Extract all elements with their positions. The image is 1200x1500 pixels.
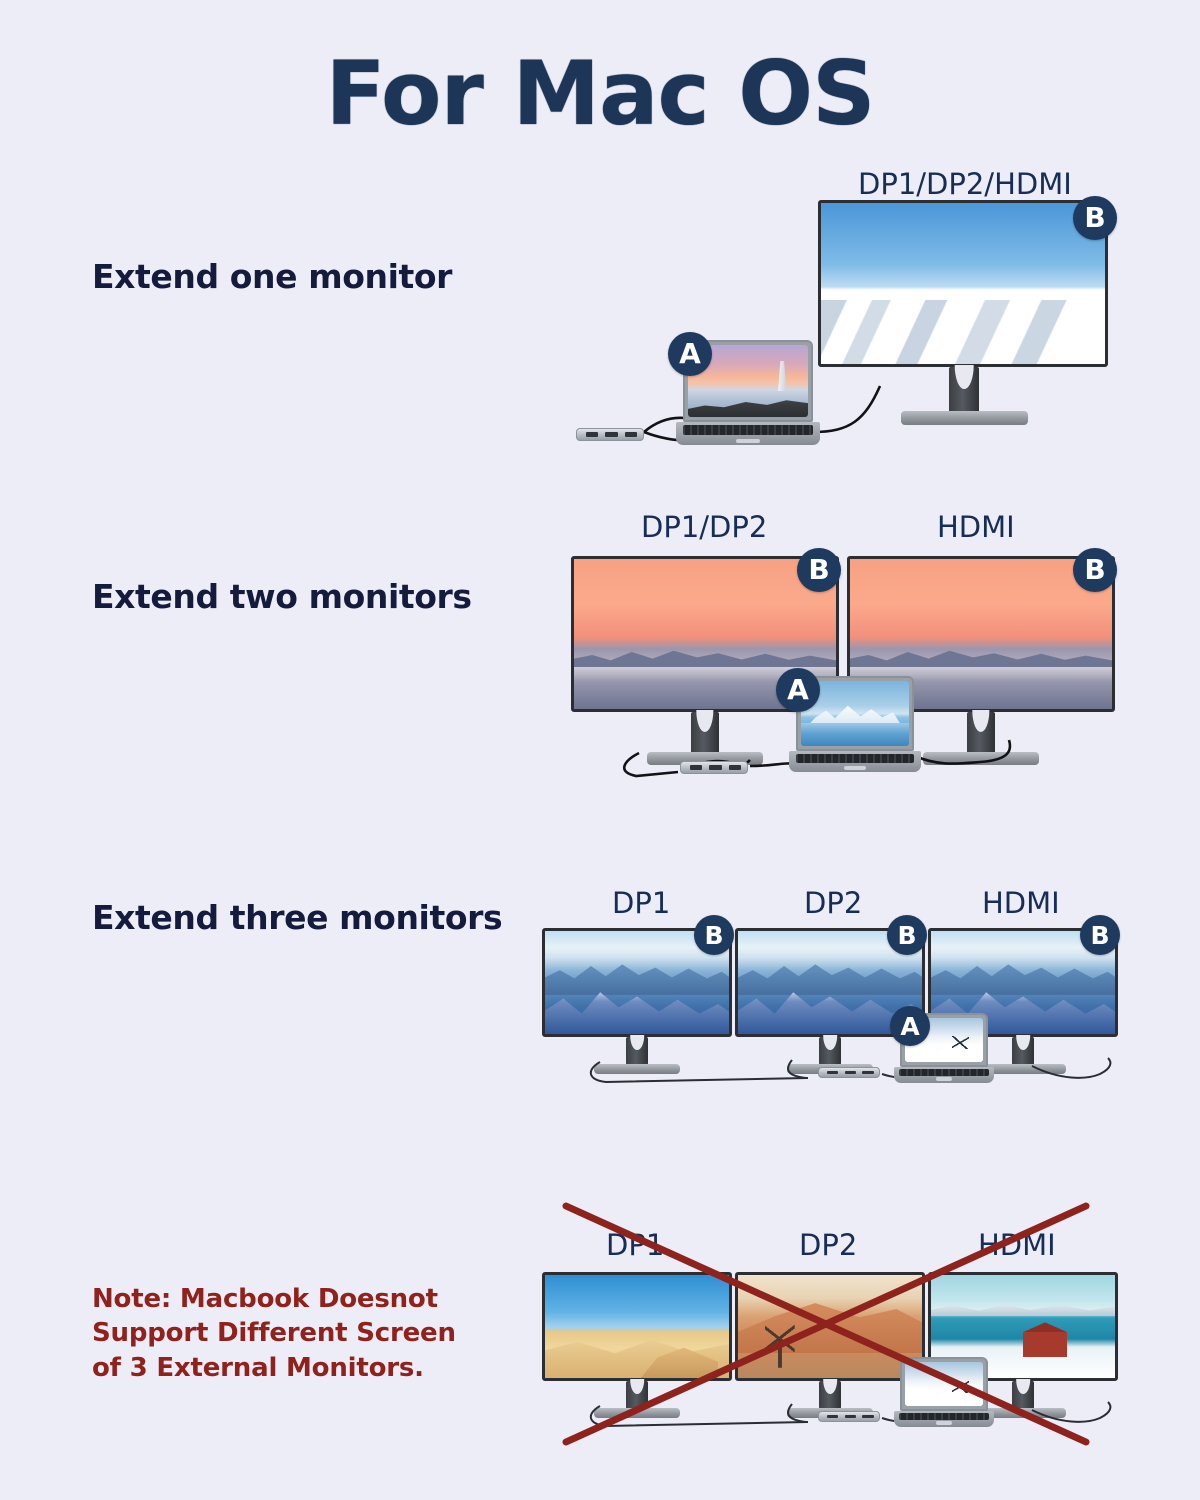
laptop-deck xyxy=(894,1411,994,1427)
section-heading-extend-two: Extend two monitors xyxy=(92,577,472,616)
laptop-keyboard xyxy=(899,1069,989,1076)
badge-b-row3-left: B xyxy=(694,915,734,955)
hub-port xyxy=(827,1071,838,1075)
port-label-row3-monitor2: DP2 xyxy=(804,886,862,920)
infographic-page: For Mac OS Extend one monitor Extend two… xyxy=(0,0,1200,1500)
hub-ports xyxy=(827,1071,874,1075)
section-heading-extend-three: Extend three monitors xyxy=(92,898,502,937)
hub-port xyxy=(605,432,617,436)
hub-ports xyxy=(690,765,742,769)
monitor-neck xyxy=(1012,1037,1034,1065)
monitor-bezel xyxy=(735,1272,925,1381)
usb-hub-dock-row2 xyxy=(680,761,748,774)
monitor-row4-center xyxy=(735,1272,925,1417)
usb-hub-dock-row1 xyxy=(576,428,644,441)
badge-a-row2: A xyxy=(776,668,820,712)
usb-hub-dock-row4 xyxy=(818,1411,880,1422)
hub-port xyxy=(586,432,598,436)
monitor-screen xyxy=(821,203,1105,364)
badge-a-row1: A xyxy=(668,332,712,376)
monitor-neck xyxy=(819,1037,841,1065)
hub-port xyxy=(862,1071,873,1075)
laptop-deck xyxy=(894,1067,994,1083)
monitor-neck xyxy=(967,712,995,754)
port-label-row2-monitor1: DP1/DP2 xyxy=(641,510,767,544)
laptop-row4 xyxy=(900,1357,988,1429)
port-label-row3-monitor3: HDMI xyxy=(982,886,1060,920)
monitor-base xyxy=(594,1408,680,1418)
monitor-neck xyxy=(819,1381,841,1409)
monitor-row1 xyxy=(818,200,1108,440)
hub-ports xyxy=(586,432,638,436)
laptop-trackpad-notch xyxy=(936,1077,952,1081)
port-label-row2-monitor2: HDMI xyxy=(937,510,1015,544)
port-label-row1-monitor1: DP1/DP2/HDMI xyxy=(858,167,1072,201)
badge-b-row3-right: B xyxy=(1080,915,1120,955)
monitor-screen xyxy=(545,1275,729,1378)
laptop-keyboard xyxy=(683,425,813,435)
monitor-bezel xyxy=(818,200,1108,367)
hub-ports xyxy=(827,1415,874,1419)
laptop-lid xyxy=(900,1357,988,1411)
wallpaper-blue-dune xyxy=(545,1275,729,1378)
badge-b-row2-right: B xyxy=(1073,548,1117,592)
laptop-deck xyxy=(676,422,820,445)
monitor-row4-left xyxy=(542,1272,732,1417)
hub-port xyxy=(862,1415,873,1419)
hub-port xyxy=(690,765,702,769)
port-label-row4-monitor3: HDMI xyxy=(978,1228,1056,1262)
monitor-base xyxy=(901,411,1028,425)
hub-port xyxy=(729,765,741,769)
monitor-base xyxy=(594,1064,680,1074)
section-heading-extend-one: Extend one monitor xyxy=(92,257,452,296)
note-text: Note: Macbook Doesnot Support Different … xyxy=(92,1282,472,1385)
badge-b-row3-center: B xyxy=(887,915,927,955)
laptop-keyboard xyxy=(899,1413,989,1420)
hub-port xyxy=(625,432,637,436)
laptop-trackpad-notch xyxy=(736,439,759,443)
hub-port xyxy=(845,1415,856,1419)
badge-a-row3: A xyxy=(890,1006,930,1046)
monitor-neck xyxy=(1012,1381,1034,1409)
laptop-keyboard xyxy=(796,754,915,763)
wallpaper-snow-peak xyxy=(821,203,1105,364)
hub-port xyxy=(827,1415,838,1419)
badge-b-row2-left: B xyxy=(797,548,841,592)
port-label-row4-monitor2: DP2 xyxy=(799,1228,857,1262)
monitor-bezel xyxy=(542,1272,732,1381)
usb-hub-dock-row3 xyxy=(818,1067,880,1078)
wallpaper-desert-tree xyxy=(738,1275,922,1378)
port-label-row3-monitor1: DP1 xyxy=(612,886,670,920)
badge-b-row1: B xyxy=(1073,196,1117,240)
page-title: For Mac OS xyxy=(0,42,1200,145)
laptop-trackpad-notch xyxy=(936,1421,952,1425)
port-label-row4-monitor1: DP1 xyxy=(606,1228,664,1262)
monitor-neck xyxy=(626,1037,648,1065)
monitor-base xyxy=(923,752,1039,765)
laptop-trackpad-notch xyxy=(844,766,865,770)
hub-port xyxy=(845,1071,856,1075)
laptop-deck xyxy=(789,751,921,772)
laptop-screen xyxy=(905,1362,983,1406)
wallpaper-snow-slope xyxy=(905,1362,983,1406)
monitor-screen xyxy=(738,1275,922,1378)
monitor-neck xyxy=(949,367,979,413)
monitor-neck xyxy=(626,1381,648,1409)
monitor-neck xyxy=(691,712,719,754)
hub-port xyxy=(709,765,721,769)
